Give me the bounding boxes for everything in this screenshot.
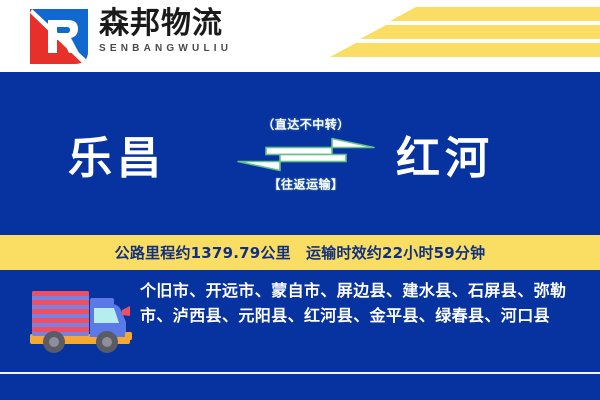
- brand-name-en: SENBANGWULIU: [99, 43, 232, 54]
- brand-logo[interactable]: 森邦物流 SENBANGWULIU: [30, 8, 232, 64]
- round-trip-note: 【往返运输】: [236, 175, 376, 192]
- route-info-band: 公路里程约1379.79公里 运输时效约22小时59分钟: [0, 235, 600, 270]
- bidirectional-arrow-icon: [236, 137, 376, 171]
- brand-wordmark: 森邦物流 SENBANGWULIU: [99, 8, 232, 54]
- banner-header: 森邦物流 SENBANGWULIU: [0, 0, 600, 72]
- distance-and-duration-text: 公路里程约1379.79公里 运输时效约22小时59分钟: [115, 242, 486, 263]
- origin-city: 乐昌: [68, 122, 166, 186]
- coverage-areas-text: 个旧市、开远市、蒙自市、屏边县、建水县、石屏县、弥勒市、泸西县、元阳县、红河县、…: [140, 278, 588, 328]
- coverage-section: 个旧市、开远市、蒙自市、屏边县、建水县、石屏县、弥勒市、泸西县、元阳县、红河县、…: [0, 270, 600, 373]
- route-band: 乐昌 （直达不中转） 【往返运输】 红河: [0, 72, 600, 235]
- footer-band: [0, 374, 600, 400]
- delivery-truck-icon: [26, 282, 134, 356]
- destination-city: 红河: [396, 122, 494, 186]
- route-center-group: （直达不中转） 【往返运输】: [236, 115, 376, 192]
- yellow-speed-stripes-icon: [270, 0, 600, 72]
- logistics-route-banner: 森邦物流 SENBANGWULIU 乐昌 （直达不中转） 【往返运输】 红河 公…: [0, 0, 600, 400]
- direct-service-note: （直达不中转）: [236, 115, 376, 132]
- senbang-r-monogram-icon: [30, 9, 88, 64]
- brand-name-cn: 森邦物流: [99, 8, 232, 40]
